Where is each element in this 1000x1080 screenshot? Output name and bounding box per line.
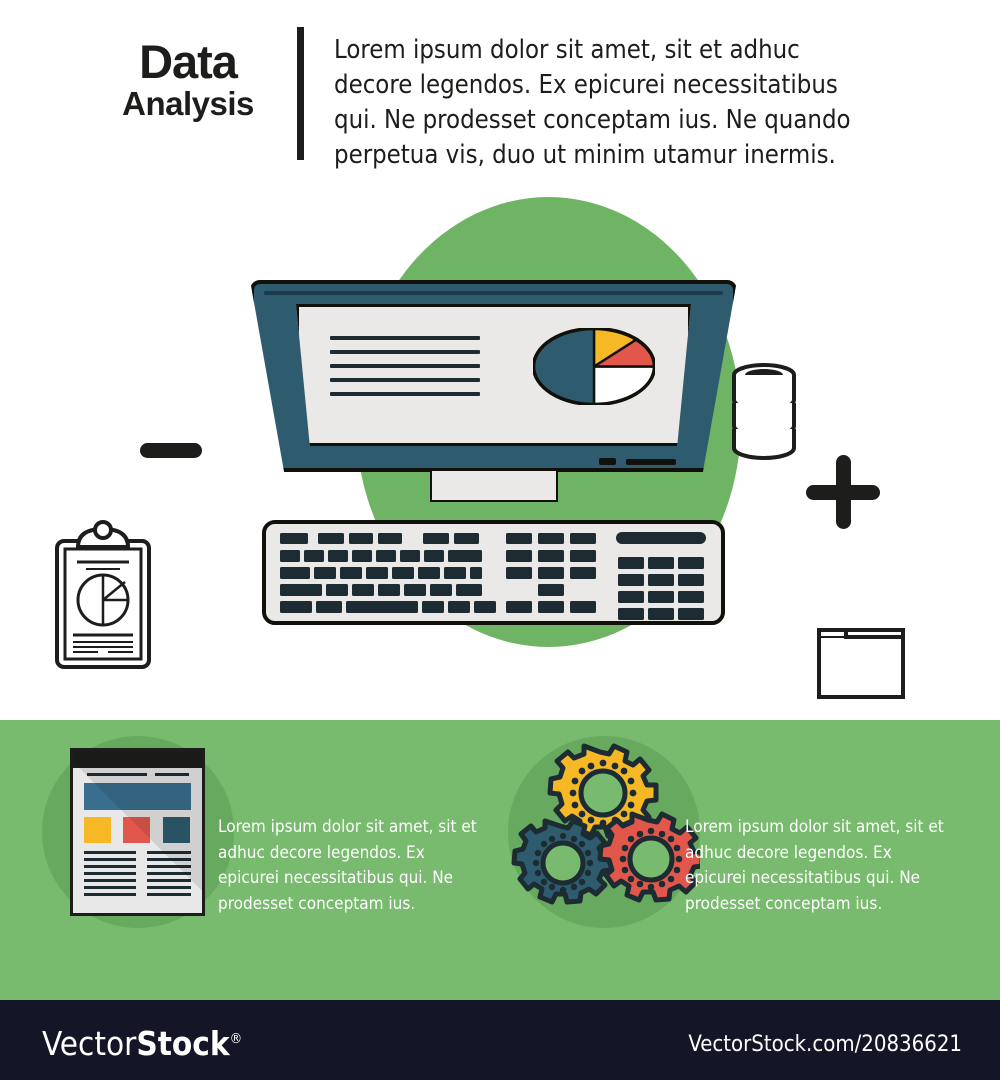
vectorstock-logo: VectorStock® [42, 1024, 242, 1063]
keyboard-keys [266, 524, 721, 621]
report-banner-block [84, 783, 191, 810]
title-line-2: Analysis [88, 86, 288, 122]
plus-operator-icon [806, 455, 880, 529]
screen-text-lines [330, 336, 480, 406]
monitor-top-accent [264, 291, 723, 295]
plus-vertical-bar [836, 455, 851, 529]
registered-mark: ® [230, 1031, 243, 1047]
watermark-footer: VectorStock® VectorStock.com/20836621 [0, 1000, 1000, 1080]
monitor-indicator-bar [626, 459, 676, 465]
screen-line [330, 336, 480, 340]
report-color-block-teal [163, 817, 190, 843]
monitor-stand-neck [430, 469, 558, 502]
brand-bold: Stock [136, 1024, 229, 1063]
pie-chart [533, 328, 655, 405]
main-illustration-section [0, 175, 1000, 720]
screen-line [330, 364, 480, 368]
page-title: Data Analysis [88, 38, 288, 122]
gears-icon [508, 736, 700, 933]
brand-light: Vector [42, 1024, 136, 1063]
screen-line [330, 392, 480, 396]
vertical-divider [297, 27, 304, 160]
database-icon [728, 363, 800, 468]
folder-icon [816, 624, 906, 705]
report-color-block-yellow [84, 817, 111, 843]
feature-2-text: Lorem ipsum dolor sit amet, sit et adhuc… [685, 815, 953, 917]
header-paragraph: Lorem ipsum dolor sit amet, sit et adhuc… [334, 33, 879, 173]
infographic-page: Data Analysis Lorem ipsum dolor sit amet… [0, 0, 1000, 1080]
desktop-computer-icon [250, 280, 737, 475]
vectorstock-url: VectorStock.com/20836621 [688, 1032, 962, 1057]
header-section: Data Analysis Lorem ipsum dolor sit amet… [0, 0, 1000, 175]
report-page [70, 748, 205, 916]
minus-operator-icon [140, 443, 202, 458]
features-section: Lorem ipsum dolor sit amet, sit et adhuc… [0, 720, 1000, 1000]
screen-line [330, 350, 480, 354]
monitor-indicator-small [599, 458, 616, 465]
feature-1-text: Lorem ipsum dolor sit amet, sit et adhuc… [218, 815, 486, 917]
report-color-block-red [123, 817, 150, 843]
keyboard-icon [262, 520, 725, 625]
screen-line [330, 378, 480, 382]
gear-blue [514, 821, 611, 902]
title-line-1: Data [88, 38, 288, 86]
clipboard-chart-icon [48, 520, 158, 680]
